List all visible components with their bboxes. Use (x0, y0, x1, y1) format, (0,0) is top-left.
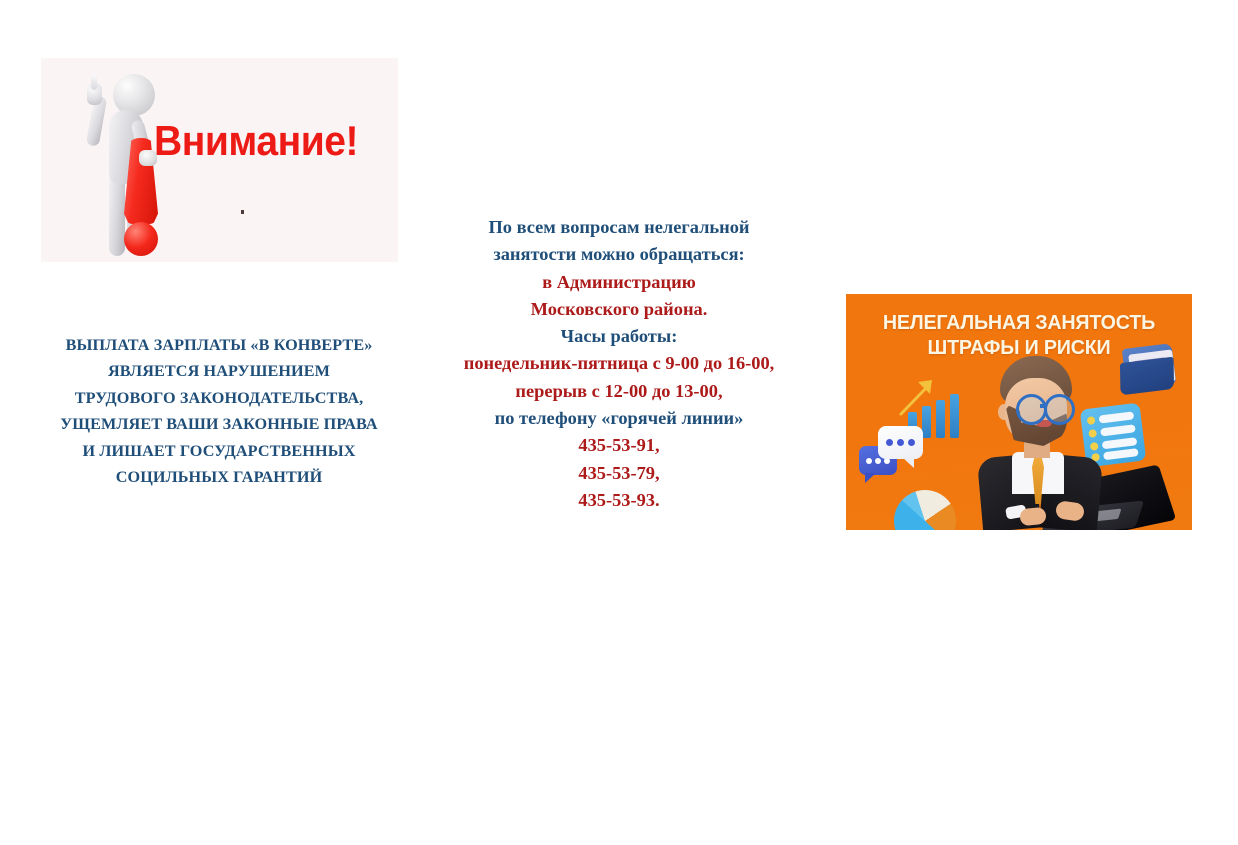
left-notice-line-1: ВЫПЛАТА ЗАРПЛАТЫ «В КОНВЕРТЕ» (28, 332, 410, 358)
mannequin-pointing-finger (91, 74, 97, 90)
center-line-1: По всем вопросам нелегальной (438, 214, 800, 241)
folder-icon (1120, 357, 1174, 396)
pie-chart-icon (894, 490, 956, 530)
chat-bubble-white-icon (878, 426, 923, 459)
red-exclamation-dot-icon (124, 222, 158, 256)
businessman-illustration (964, 356, 1124, 530)
hotline-phone-2: 435-53-79, (438, 460, 800, 487)
center-line-5: Часы работы: (438, 323, 800, 350)
mannequin-head (113, 74, 155, 116)
center-line-8: по телефону «горячей линии» (438, 405, 800, 432)
businessman-glasses-bridge (1040, 404, 1046, 408)
hotline-phone-3: 435-53-93. (438, 487, 800, 514)
mannequin-left-leg (109, 174, 125, 256)
center-contact-block: По всем вопросам нелегальной занятости м… (438, 214, 800, 514)
center-line-2: занятости можно обращаться: (438, 241, 800, 268)
hotline-phone-1: 435-53-91, (438, 432, 800, 459)
image-speck-artifact (241, 210, 244, 214)
businessman-glasses-left-lens (1016, 394, 1047, 425)
left-notice-line-2: ЯВЛЯЕТСЯ НАРУШЕНИЕМ (28, 358, 410, 384)
illegal-employment-banner: НЕЛЕГАЛЬНАЯ ЗАНЯТОСТЬ ШТРАФЫ И РИСКИ (846, 294, 1192, 530)
left-notice-line-5: И ЛИШАЕТ ГОСУДАРСТВЕННЫХ (28, 438, 410, 464)
center-line-4: Московского района. (438, 296, 800, 323)
left-notice-line-3: ТРУДОВОГО ЗАКОНОДАТЕЛЬСТВА, (28, 385, 410, 411)
businessman-glasses-right-lens (1044, 394, 1075, 425)
left-notice-line-4: УЩЕМЛЯЕТ ВАШИ ЗАКОННЫЕ ПРАВА (28, 411, 410, 437)
center-line-6: понедельник-пятница с 9-00 до 16-00, (438, 350, 800, 377)
left-notice-block: ВЫПЛАТА ЗАРПЛАТЫ «В КОНВЕРТЕ» ЯВЛЯЕТСЯ Н… (28, 332, 410, 490)
mannequin-resting-hand (139, 150, 157, 166)
banner-title-line-1: НЕЛЕГАЛЬНАЯ ЗАНЯТОСТЬ (853, 310, 1185, 335)
attention-word: Внимание! (154, 120, 358, 162)
center-line-7: перерыв с 12-00 до 13-00, (438, 378, 800, 405)
attention-banner-image: Внимание! (41, 58, 398, 262)
center-line-3: в Администрацию (438, 269, 800, 296)
left-notice-line-6: СОЦИЛЬНЫХ ГАРАНТИЙ (28, 464, 410, 490)
